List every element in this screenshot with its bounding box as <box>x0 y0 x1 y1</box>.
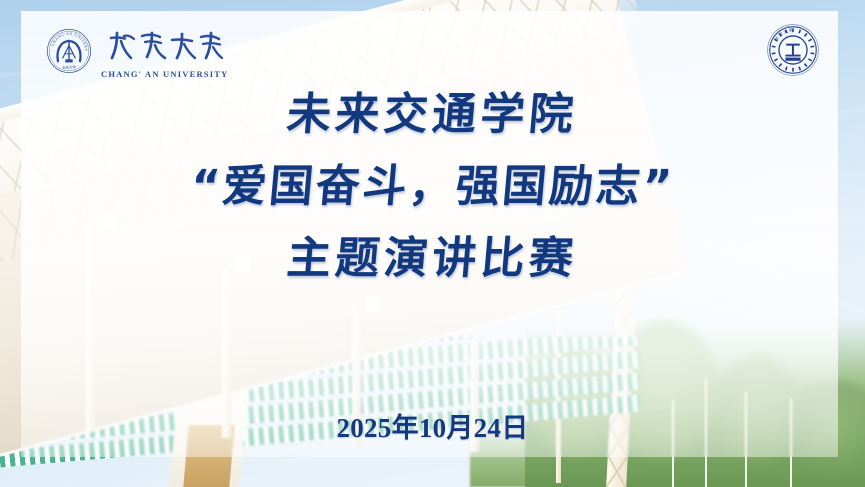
svg-text:长安大学: 长安大学 <box>62 64 76 69</box>
svg-text:工: 工 <box>785 41 801 60</box>
title-block: 未来交通学院 “爱国奋斗，强国励志” 主题演讲比赛 <box>0 92 865 283</box>
svg-text:CHANG'AN UNIVERSITY: CHANG'AN UNIVERSITY <box>46 28 88 51</box>
gear-emblem-logo: 工 长安大学 <box>766 23 820 82</box>
title-line-3: 主题演讲比赛 <box>285 236 579 282</box>
wordmark-english: CHANG' AN UNIVERSITY <box>101 69 228 79</box>
changan-university-wordmark: CHANG' AN UNIVERSITY <box>101 29 228 79</box>
title-line-1: 未来交通学院 <box>285 92 579 138</box>
wordmark-chinese <box>106 29 224 67</box>
event-date: 2025年10月24日 <box>0 406 865 445</box>
title-line-2: “爱国奋斗，强国励志” <box>189 164 676 210</box>
changan-university-seal-icon: CHANG'AN UNIVERSITY 长安大学 <box>46 28 92 79</box>
presentation-slide: CHANG'AN UNIVERSITY 长安大学 <box>0 0 865 487</box>
gear-emblem-icon: 工 长安大学 <box>766 64 820 81</box>
changan-university-logo: CHANG'AN UNIVERSITY 长安大学 <box>46 28 228 79</box>
